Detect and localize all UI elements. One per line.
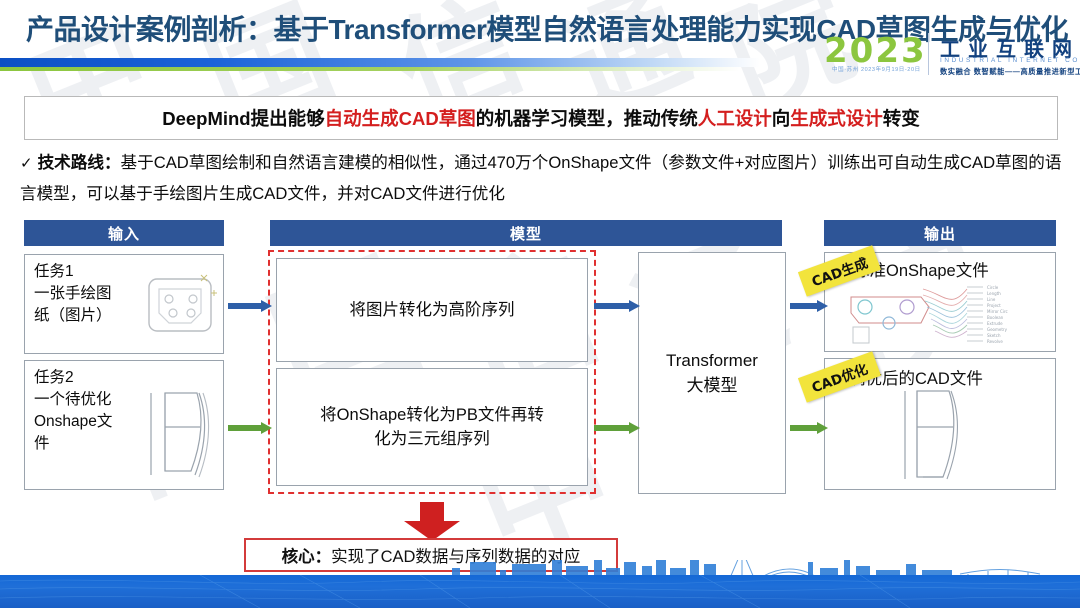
logo-divider <box>928 33 929 75</box>
tech-route-label: 技术路线： <box>38 153 121 172</box>
arrow-transformer-to-output2 <box>790 422 828 434</box>
transformer-line-1: Transformer <box>666 348 758 373</box>
svg-text:Line: Line <box>987 297 996 302</box>
input-box-task2[interactable]: 任务2 一个待优化 Onshape文 件 <box>24 360 224 490</box>
slide-root: 中 国 信 通 院 国 信 通 院 中 中 产品设计案例剖析：基于Transfo… <box>0 0 1080 608</box>
title-divider <box>0 58 760 74</box>
transformer-box[interactable]: Transformer 大模型 <box>638 252 786 494</box>
headline-banner: DeepMind提出能够自动生成CAD草图的机器学习模型，推动传统人工设计向生成… <box>24 96 1058 140</box>
column-header-model: 模型 <box>270 220 782 246</box>
model-box-1[interactable]: 将图片转化为高阶序列 <box>276 258 588 362</box>
headline-part-3: 向 <box>772 108 791 129</box>
bottom-decorative-band <box>0 560 1080 608</box>
input-box-task1[interactable]: 任务1 一张手绘图 纸（图片） <box>24 254 224 354</box>
svg-text:Length: Length <box>987 291 1001 296</box>
svg-text:Geometry: Geometry <box>987 327 1008 332</box>
svg-text:Revolve: Revolve <box>987 339 1003 344</box>
logo-year-subtitle: 中国·苏州 2023年9月19日-20日 <box>832 65 921 73</box>
headline-text: DeepMind提出能够自动生成CAD草图的机器学习模型，推动传统人工设计向生成… <box>162 105 920 131</box>
logo-english-title: INDUSTRIAL INTERNET CONFERENCE <box>940 57 1080 64</box>
sea-gradient <box>0 575 1080 608</box>
svg-text:Circle: Circle <box>987 285 999 290</box>
svg-text:Extrude: Extrude <box>987 321 1003 326</box>
svg-text:Boolean: Boolean <box>987 315 1004 320</box>
svg-text:Sketch: Sketch <box>987 333 1001 338</box>
conference-logo: 2023 中国·苏州 2023年9月19日-20日 工业互联网大会 INDUST… <box>746 33 1066 77</box>
optimized-cad-outline-icon <box>887 387 983 487</box>
svg-text:Mirror Circ: Mirror Circ <box>987 309 1008 314</box>
arrow-input2-to-model2 <box>228 422 272 434</box>
model-box-1-text: 将图片转化为高阶序列 <box>350 298 515 322</box>
logo-slogan: 数实融合 数智赋能——高质量推进新型工业化 <box>940 67 1080 77</box>
headline-part-2: 的机器学习模型，推动传统 <box>476 108 698 129</box>
transformer-box-text: Transformer 大模型 <box>666 348 758 398</box>
hand-drawn-sketch-icon <box>143 267 219 343</box>
arrow-model1-to-transformer <box>594 300 640 312</box>
onshape-graph-thumbnail-icon: CircleLength LineProject Mirror CircBool… <box>833 279 1049 349</box>
tech-route-body: 基于CAD草图绘制和自然语言建模的相似性，通过470万个OnShape文件（参数… <box>20 153 1061 203</box>
model-box-2[interactable]: 将OnShape转化为PB文件再转 化为三元组序列 <box>276 368 588 486</box>
pipeline-diagram: 输入 模型 输出 任务1 一张手绘图 纸（图片） 任务2 一个待优化 Onsha… <box>0 216 1080 526</box>
headline-highlight-2: 人工设计 <box>698 108 772 129</box>
tech-route-paragraph: ✓技术路线：基于CAD草图绘制和自然语言建模的相似性，通过470万个OnShap… <box>20 148 1066 209</box>
arrow-input1-to-model1 <box>228 300 272 312</box>
headline-highlight-1: 自动生成CAD草图 <box>325 108 476 129</box>
headline-highlight-3: 生成式设计 <box>790 108 883 129</box>
input-box-task2-label: 任务2 一个待优化 Onshape文 件 <box>34 367 112 455</box>
arrow-transformer-to-output1 <box>790 300 828 312</box>
column-header-input: 输入 <box>24 220 224 246</box>
arrow-down-to-core <box>404 502 460 540</box>
divider-green-bar <box>0 67 740 71</box>
column-header-output: 输出 <box>824 220 1056 246</box>
headline-part-4: 转变 <box>883 108 920 129</box>
input-box-task1-label: 任务1 一张手绘图 纸（图片） <box>34 261 112 327</box>
arrow-model2-to-transformer <box>594 422 640 434</box>
svg-text:Project: Project <box>987 303 1001 308</box>
check-icon: ✓ <box>20 155 33 172</box>
divider-blue-bar <box>0 58 760 67</box>
cad-part-outline-icon <box>141 387 219 483</box>
transformer-line-2: 大模型 <box>666 373 758 398</box>
headline-part-1: DeepMind提出能够 <box>162 108 324 129</box>
model-box-2-text: 将OnShape转化为PB文件再转 化为三元组序列 <box>320 403 544 451</box>
